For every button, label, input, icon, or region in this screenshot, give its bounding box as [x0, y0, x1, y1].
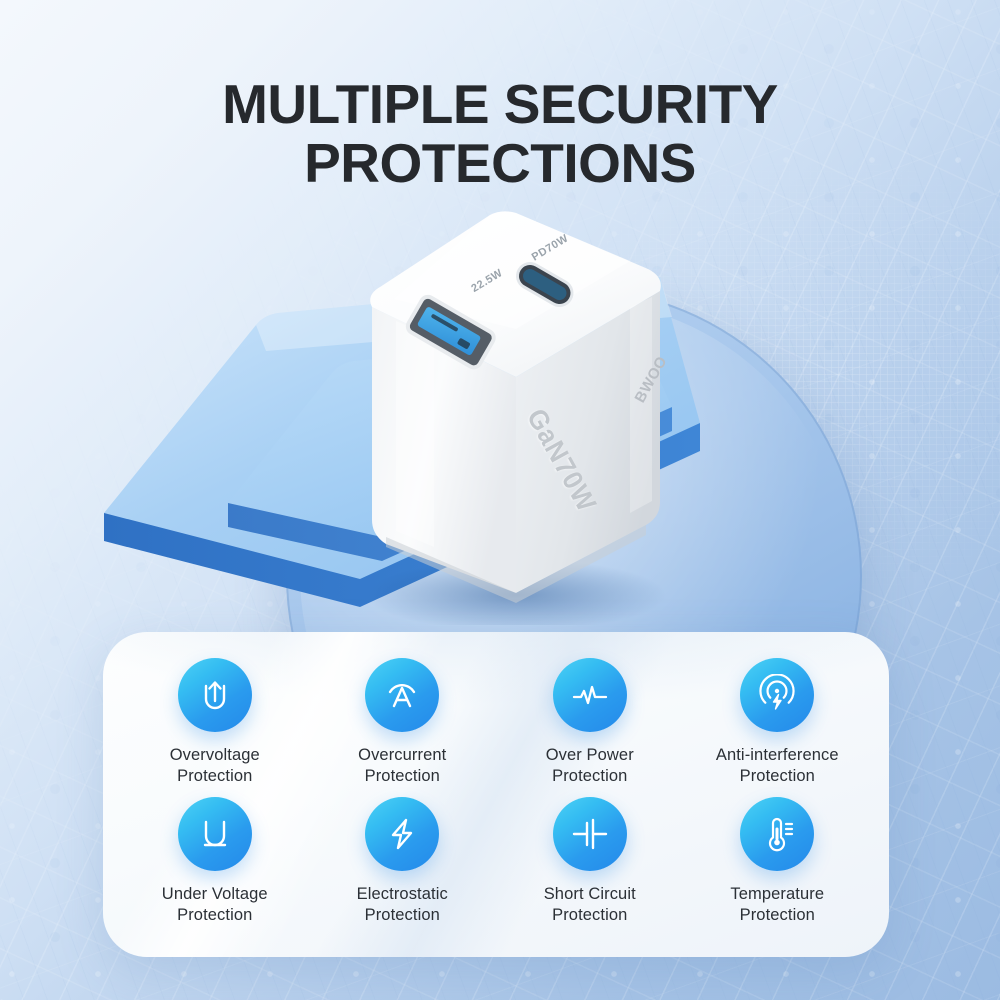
page-title: MULTIPLE SECURITY PROTECTIONS — [0, 75, 1000, 193]
features-card: Overvoltage Protection Overcurrent Prote… — [103, 632, 889, 957]
product-feature-banner: PD70W 22.5W GaN70W BWOO MULTIPLE SECURIT… — [0, 0, 1000, 1000]
feature-label-line2: Protection — [162, 905, 268, 926]
feature-label-line1: Overcurrent — [358, 746, 446, 764]
feature-item[interactable]: Short Circuit Protection — [496, 797, 684, 936]
feature-caption: Short Circuit Protection — [544, 884, 636, 926]
temperature-icon — [740, 797, 814, 871]
feature-label-line1: Short Circuit — [544, 885, 636, 903]
feature-label-line2: Protection — [170, 766, 260, 787]
feature-label-line1: Overvoltage — [170, 746, 260, 764]
anti-interference-icon — [740, 658, 814, 732]
under-voltage-icon — [178, 797, 252, 871]
feature-label-line2: Protection — [546, 766, 634, 787]
title-line-2: PROTECTIONS — [0, 134, 1000, 193]
feature-label-line2: Protection — [358, 766, 446, 787]
feature-item[interactable]: Overcurrent Protection — [309, 658, 497, 797]
feature-label-line2: Protection — [730, 905, 824, 926]
feature-label-line2: Protection — [716, 766, 839, 787]
overvoltage-icon — [178, 658, 252, 732]
feature-label-line1: Temperature — [730, 885, 824, 903]
feature-caption: Overcurrent Protection — [358, 745, 446, 787]
feature-label-line1: Anti-interference — [716, 746, 839, 764]
charger-product-image: PD70W 22.5W GaN70W BWOO — [330, 195, 690, 625]
electrostatic-icon — [365, 797, 439, 871]
feature-label-line1: Under Voltage — [162, 885, 268, 903]
feature-item[interactable]: Over Power Protection — [496, 658, 684, 797]
feature-caption: Overvoltage Protection — [170, 745, 260, 787]
feature-label-line1: Over Power — [546, 746, 634, 764]
feature-caption: Under Voltage Protection — [162, 884, 268, 926]
feature-caption: Temperature Protection — [730, 884, 824, 926]
feature-item[interactable]: Temperature Protection — [684, 797, 872, 936]
feature-caption: Electrostatic Protection — [357, 884, 448, 926]
feature-caption: Over Power Protection — [546, 745, 634, 787]
feature-caption: Anti-interference Protection — [716, 745, 839, 787]
feature-item[interactable]: Overvoltage Protection — [121, 658, 309, 797]
short-circuit-icon — [553, 797, 627, 871]
overcurrent-icon — [365, 658, 439, 732]
feature-item[interactable]: Anti-interference Protection — [684, 658, 872, 797]
title-line-1: MULTIPLE SECURITY — [222, 73, 778, 135]
features-grid: Overvoltage Protection Overcurrent Prote… — [103, 632, 889, 957]
feature-item[interactable]: Electrostatic Protection — [309, 797, 497, 936]
feature-label-line1: Electrostatic — [357, 885, 448, 903]
feature-label-line2: Protection — [544, 905, 636, 926]
over-power-icon — [553, 658, 627, 732]
feature-item[interactable]: Under Voltage Protection — [121, 797, 309, 936]
feature-label-line2: Protection — [357, 905, 448, 926]
